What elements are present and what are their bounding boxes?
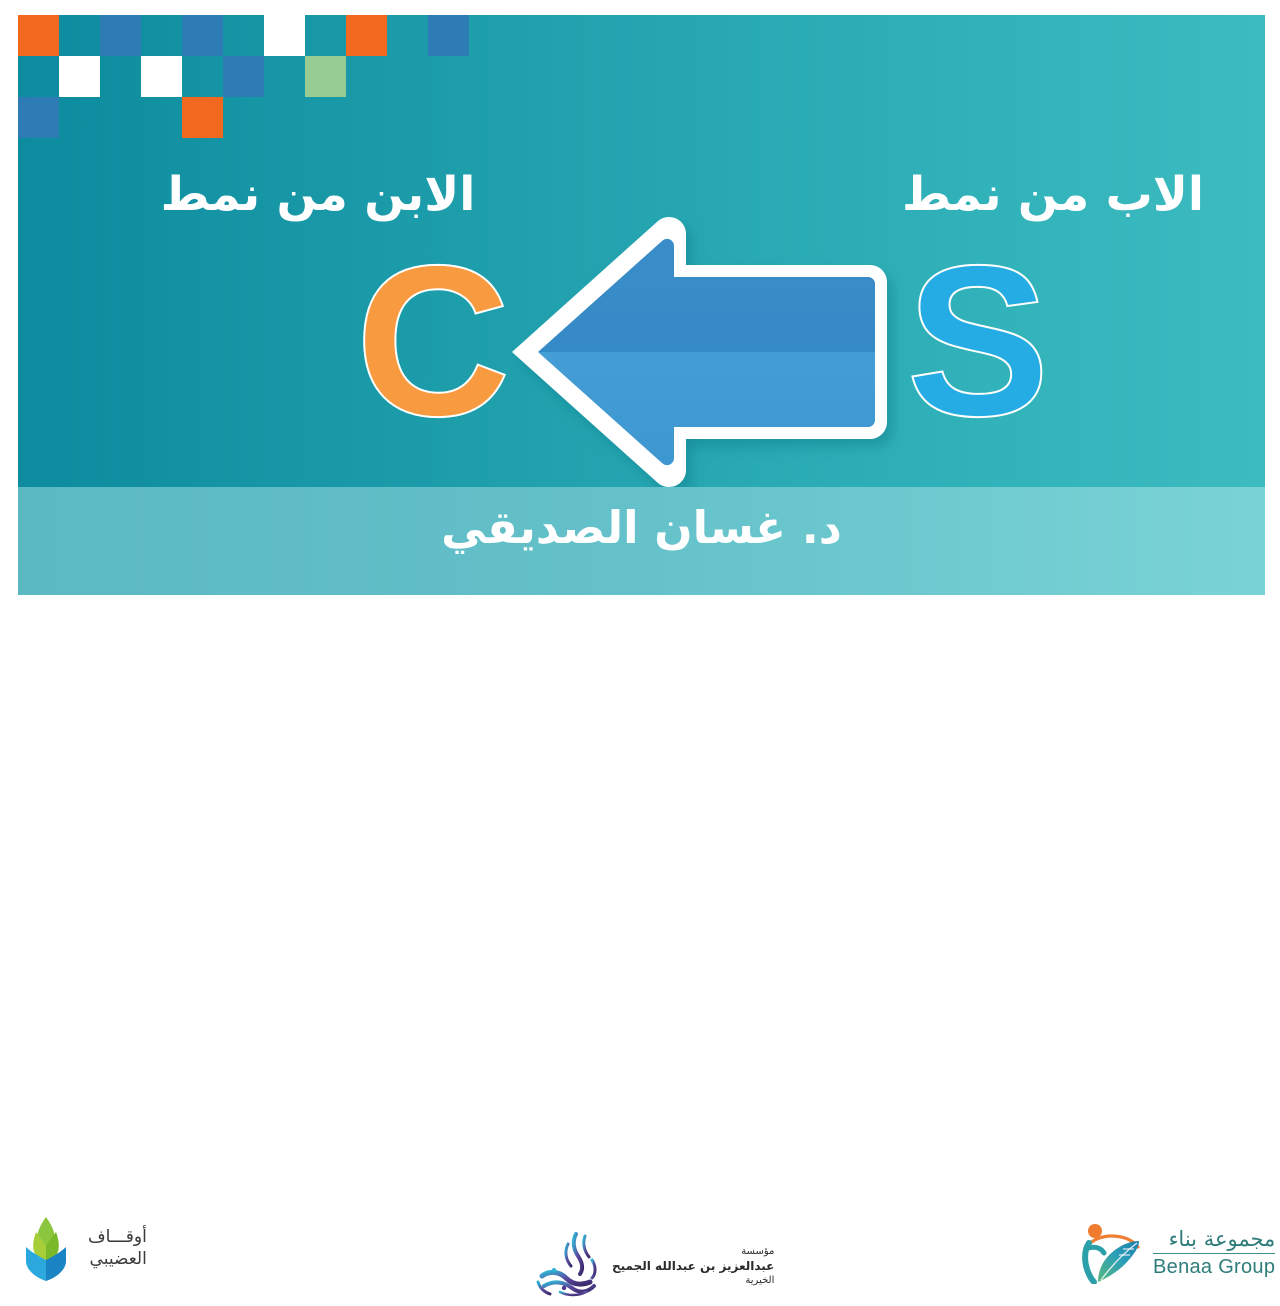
mosaic-square-blue: [100, 15, 141, 56]
heading-father: الاب من نمط: [858, 167, 1248, 222]
mosaic-square-blue: [18, 97, 59, 138]
mosaic-square-white: [264, 15, 305, 56]
logo-awqaf: أوقـــاف العضيبي: [18, 1216, 147, 1282]
logo-benaa: مجموعة بناء Benaa Group: [1075, 1222, 1275, 1284]
logo-jomaih-line3: الخيرية: [612, 1274, 774, 1287]
speaker-band: د. غسان الصديقي: [18, 487, 1265, 595]
mosaic-square-blue: [223, 56, 264, 97]
logo-awqaf-line1: أوقـــاف: [88, 1227, 147, 1249]
leaf-person-icon: [1075, 1222, 1143, 1284]
logo-jomaih-line1: مؤسسة: [612, 1245, 774, 1258]
main-panel: الابن من نمط الاب من نمط C S: [18, 15, 1265, 487]
speaker-name: د. غسان الصديقي: [18, 501, 1265, 554]
mosaic-square-green: [305, 56, 346, 97]
calligraphy-mark-icon: [530, 1230, 602, 1302]
wheat-leaf-icon: [18, 1216, 74, 1282]
heading-son: الابن من نمط: [128, 167, 508, 222]
mosaic-square-orange: [182, 97, 223, 138]
mosaic-square-blue: [182, 15, 223, 56]
letter-s: S: [893, 233, 1063, 448]
logo-strip: أوقـــاف العضيبي مؤسسة عبدالعزيز بن عبدا…: [0, 596, 1280, 720]
mosaic-square-white: [59, 56, 100, 97]
logo-awqaf-text: أوقـــاف العضيبي: [88, 1227, 147, 1271]
logo-jomaih-line2: عبدالعزيز بن عبدالله الجميح: [612, 1258, 774, 1274]
left-arrow-icon: [490, 205, 900, 487]
mosaic-square-blue: [428, 15, 469, 56]
logo-awqaf-line2: العضيبي: [88, 1249, 147, 1271]
logo-benaa-arabic: مجموعة بناء: [1153, 1227, 1275, 1254]
logo-jomaih-text: مؤسسة عبدالعزيز بن عبدالله الجميح الخيري…: [612, 1245, 774, 1288]
slide-root: الابن من نمط الاب من نمط C S: [0, 0, 1280, 720]
mosaic-square-orange: [18, 15, 59, 56]
logo-benaa-text: مجموعة بناء Benaa Group: [1153, 1227, 1275, 1279]
mosaic-square-orange: [346, 15, 387, 56]
logo-benaa-english: Benaa Group: [1153, 1254, 1275, 1279]
logo-jomaih: مؤسسة عبدالعزيز بن عبدالله الجميح الخيري…: [530, 1230, 774, 1302]
mosaic-square-white: [141, 56, 182, 97]
